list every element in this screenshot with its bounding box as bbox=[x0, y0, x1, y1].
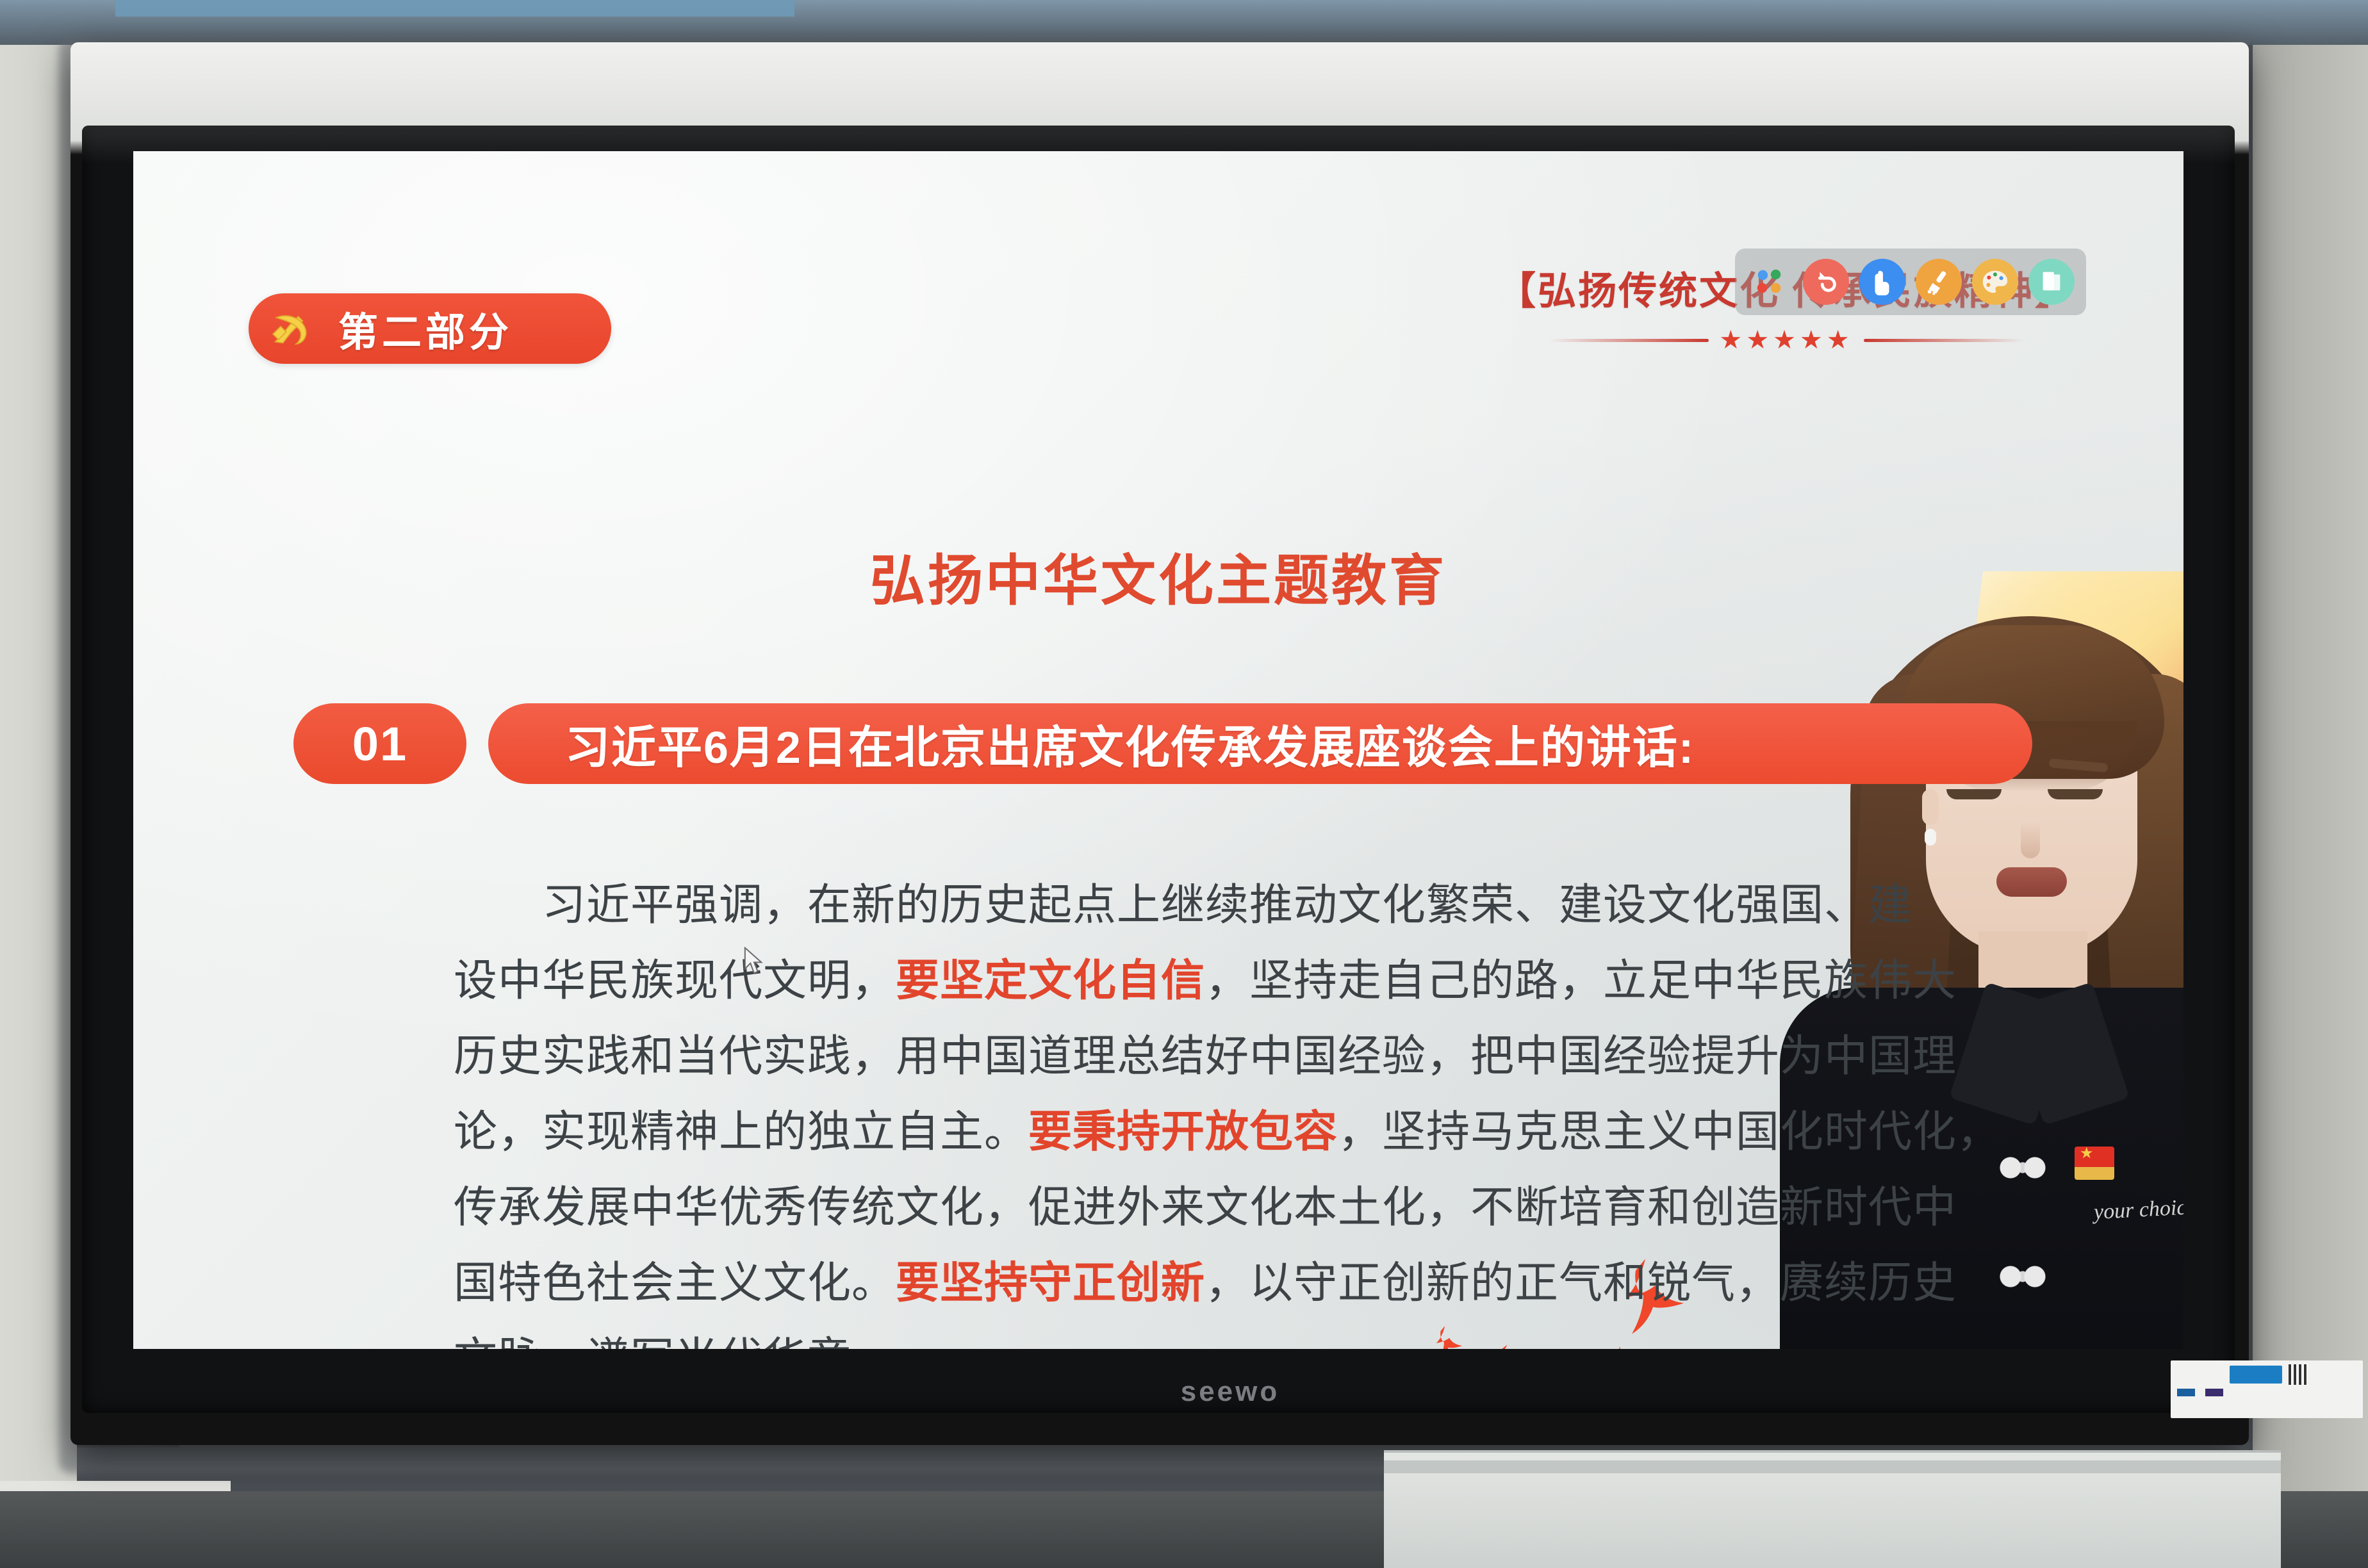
body-run: 习近平强调，在新的历史起点上继续推动文化繁荣、建设文化强国、建 bbox=[454, 881, 1912, 929]
eraser-brush-icon[interactable] bbox=[1916, 259, 1962, 305]
pc-qr-label bbox=[2289, 1364, 2308, 1385]
wall-right bbox=[2253, 0, 2368, 1568]
section-badge: 第二部分 bbox=[249, 293, 611, 364]
motto-divider: ★★★★★ bbox=[1466, 327, 2107, 353]
classroom-scene: seewo 人 bbox=[0, 0, 2368, 1568]
pc-indicator-1 bbox=[2177, 1389, 2195, 1396]
body-line-6: 国特色社会主义文化。要坚持守正创新，以守正创新的正气和锐气，赓续历史 bbox=[454, 1245, 1741, 1321]
slide-title: 弘扬中华文化主题教育 bbox=[133, 535, 2183, 616]
highlighted-phrase: 要坚定文化自信 bbox=[896, 956, 1205, 1005]
motto-stars: ★★★★★ bbox=[1719, 327, 1853, 353]
body-run: 传承发展中华优秀传统文化，促进外来文化本土化，不断培育和创造新时代中 bbox=[454, 1183, 1957, 1232]
ear bbox=[1922, 789, 1939, 825]
palette-icon[interactable] bbox=[1972, 259, 2018, 305]
body-run: 历史实践和当代实践，用中国道理总结好中国经验，把中国经验提升为中国理 bbox=[454, 1032, 1957, 1081]
body-run: 论，实现精神上的独立自主。 bbox=[454, 1107, 1028, 1156]
seewo-brand-logo: seewo bbox=[1128, 1376, 1333, 1408]
body-line-4: 论，实现精神上的独立自主。要秉持开放包容，坚持马克思主义中国化时代化， bbox=[454, 1094, 1741, 1170]
bow-ornament-lower bbox=[1999, 1263, 2046, 1290]
section-badge-label: 第二部分 bbox=[338, 300, 513, 357]
bow-ornament-upper bbox=[1999, 1154, 2046, 1181]
banner-bar: 习近平6月2日在北京出席文化传承发展座谈会上的讲话: bbox=[488, 703, 2032, 784]
mouth bbox=[1996, 867, 2067, 897]
numbered-banner: 01 习近平6月2日在北京出席文化传承发展座谈会上的讲话: bbox=[293, 703, 2032, 784]
shapes-icon[interactable] bbox=[1747, 259, 1793, 305]
earring bbox=[1925, 829, 1936, 845]
nose bbox=[2021, 821, 2040, 858]
body-run: 设中华民族现代文明， bbox=[454, 956, 896, 1005]
pc-indicator-2 bbox=[2205, 1389, 2223, 1396]
youth-league-badge bbox=[2075, 1147, 2114, 1180]
highlighted-phrase: 要秉持开放包容 bbox=[1028, 1107, 1338, 1156]
banner-number: 01 bbox=[293, 703, 466, 784]
undo-icon[interactable] bbox=[1803, 259, 1849, 305]
pages-icon[interactable] bbox=[2028, 259, 2075, 305]
body-line-3: 历史实践和当代实践，用中国道理总结好中国经验，把中国经验提升为中国理 bbox=[454, 1018, 1741, 1094]
party-emblem-icon bbox=[265, 301, 320, 356]
slide-body-text: 习近平强调，在新的历史起点上继续推动文化繁荣、建设文化强国、建设中华民族现代文明… bbox=[454, 867, 1741, 1349]
body-line-1: 习近平强调，在新的历史起点上继续推动文化繁荣、建设文化强国、建 bbox=[454, 867, 1741, 943]
eye-right bbox=[2048, 789, 2103, 799]
body-run: ，以守正创新的正气和锐气，赓续历史 bbox=[1205, 1259, 1957, 1307]
chest-embroidery: your choice bbox=[2093, 1195, 2183, 1225]
divider-line-left bbox=[1549, 339, 1709, 342]
pointer-hand-icon[interactable] bbox=[1859, 259, 1905, 305]
slide-screen[interactable]: 人 you bbox=[133, 151, 2183, 1349]
divider-line-right bbox=[1864, 339, 2024, 342]
body-line-7: 文脉、谱写当代华章。 bbox=[454, 1321, 1741, 1349]
body-line-2: 设中华民族现代文明，要坚定文化自信，坚持走自己的路，立足中华民族伟大 bbox=[454, 943, 1741, 1018]
body-line-5: 传承发展中华优秀传统文化，促进外来文化本土化，不断培育和创造新时代中 bbox=[454, 1170, 1741, 1245]
annotation-toolbar[interactable] bbox=[1735, 249, 2086, 315]
body-run: ，坚持马克思主义中国化时代化， bbox=[1338, 1107, 2001, 1156]
highlighted-phrase: 要坚持守正创新 bbox=[896, 1259, 1205, 1307]
wall-top-accent bbox=[115, 0, 794, 17]
pc-sticker bbox=[2230, 1366, 2282, 1384]
body-run: ，坚持走自己的路，立足中华民族伟大 bbox=[1205, 956, 1957, 1005]
body-run: 国特色社会主义文化。 bbox=[454, 1259, 896, 1307]
body-run: 文脉、谱写当代华章。 bbox=[454, 1334, 896, 1349]
desk-edge bbox=[1384, 1460, 2281, 1473]
eye-left bbox=[1946, 789, 2002, 799]
banner-text: 习近平6月2日在北京出席文化传承发展座谈会上的讲话: bbox=[565, 712, 1695, 776]
